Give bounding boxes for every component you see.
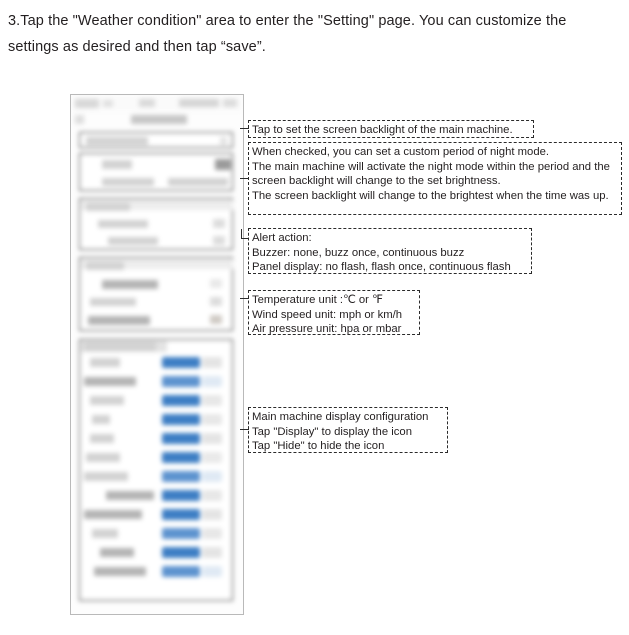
settings-screenshot-panel (70, 94, 244, 615)
status-bar (71, 95, 243, 111)
card-backlight[interactable] (79, 132, 233, 148)
callout-night-mode: When checked, you can set a custom perio… (248, 142, 622, 215)
callout-display-configuration: Main machine display configuration Tap "… (248, 407, 448, 453)
leader-bracket-alert (241, 229, 242, 238)
card-display-configuration[interactable] (79, 339, 233, 601)
card-night-mode[interactable] (79, 153, 233, 191)
blurred-app-content (71, 95, 243, 614)
card-units[interactable] (79, 257, 233, 331)
app-page-title (131, 115, 187, 124)
callout-backlight: Tap to set the screen backlight of the m… (248, 120, 534, 138)
callout-units: Temperature unit :℃ or ℉ Wind speed unit… (248, 290, 420, 335)
card-alert-action[interactable] (79, 198, 233, 250)
callout-alert-action: Alert action: Buzzer: none, buzz once, c… (248, 228, 532, 274)
instruction-paragraph: 3.Tap the "Weather condition" area to en… (8, 8, 620, 60)
